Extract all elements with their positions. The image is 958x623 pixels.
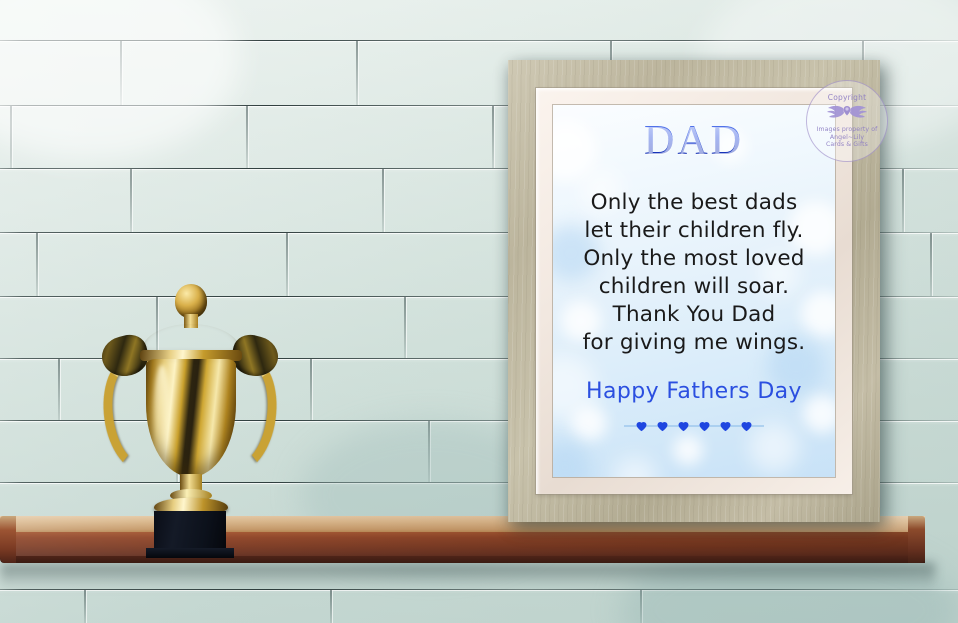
heart-icon	[739, 418, 754, 433]
verse-line: children will soar.	[583, 273, 806, 301]
picture-frame: DAD Only the best dads let their childre…	[508, 60, 880, 522]
shelf-drop-shadow	[0, 563, 935, 589]
shelf-bottom-bevel	[0, 556, 925, 563]
heart-icon	[655, 418, 670, 433]
trophy-finial	[175, 284, 207, 318]
frame-opening: DAD Only the best dads let their childre…	[553, 105, 835, 477]
shelf-front-edge	[0, 532, 925, 558]
verse-line: let their children fly.	[583, 217, 806, 245]
print-title: DAD	[644, 119, 744, 163]
print-verse: Only the best dads let their children fl…	[583, 189, 806, 357]
shelf-left-end	[0, 516, 16, 563]
heart-icon	[697, 418, 712, 433]
shelf-right-end	[908, 516, 925, 563]
trophy-plinth	[146, 548, 234, 558]
fathers-day-print: DAD Only the best dads let their childre…	[553, 105, 835, 477]
verse-line: Thank You Dad	[583, 301, 806, 329]
gold-trophy	[96, 284, 286, 520]
print-greeting: Happy Fathers Day	[586, 379, 802, 404]
verse-line: for giving me wings.	[583, 329, 806, 357]
verse-line: Only the most loved	[583, 245, 806, 273]
trophy-base	[154, 511, 226, 551]
product-photo-scene: DAD Only the best dads let their childre…	[0, 0, 958, 623]
heart-icon	[634, 418, 649, 433]
heart-icon	[718, 418, 733, 433]
heart-row	[634, 418, 754, 433]
verse-line: Only the best dads	[583, 189, 806, 217]
heart-icon	[676, 418, 691, 433]
